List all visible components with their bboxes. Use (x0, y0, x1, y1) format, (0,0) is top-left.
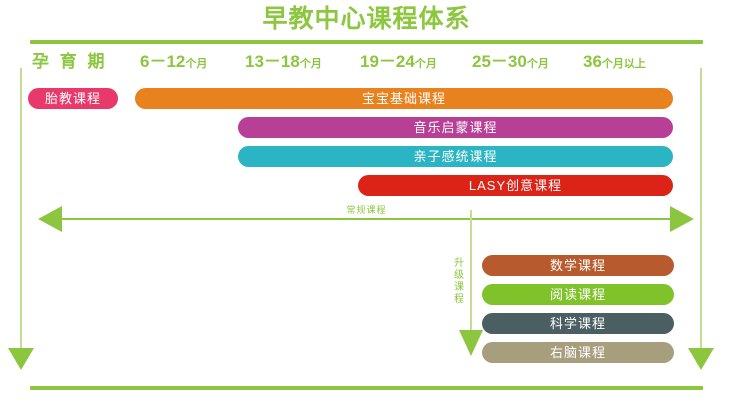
age-header-unit: 个月 (185, 58, 207, 70)
age-header-unit: 个月 (300, 58, 322, 70)
course-bar[interactable]: 科学课程 (482, 313, 674, 334)
age-header-range: 36 (583, 52, 602, 71)
course-bar[interactable]: 右脑课程 (482, 342, 674, 363)
regular-course-axis-label: 常规课程 (0, 203, 733, 216)
top-divider (30, 40, 703, 44)
age-header-unit: 个月 (415, 58, 437, 70)
course-bar[interactable]: 亲子感统课程 (238, 146, 673, 167)
right-down-arrow-icon (688, 348, 714, 370)
regular-course-axis (60, 218, 670, 220)
upgrade-down-arrow-icon (459, 330, 483, 356)
infographic-root: 早教中心课程体系 孕 育 期6－12个月13－18个月19－24个月25－30个… (0, 0, 733, 403)
age-header-3: 19－24个月 (360, 50, 437, 76)
course-bar[interactable]: 数学课程 (482, 255, 674, 276)
age-header-range: 孕 育 期 (32, 52, 107, 71)
course-bar[interactable]: 宝宝基础课程 (135, 88, 673, 109)
prenatal-course-pill[interactable]: 胎教课程 (28, 88, 118, 109)
left-down-arrow-icon (8, 348, 34, 370)
age-header-range: 19－24 (360, 52, 415, 71)
page-title: 早教中心课程体系 (0, 4, 733, 34)
age-header-unit: 个月以上 (602, 58, 646, 70)
age-header-row: 孕 育 期6－12个月13－18个月19－24个月25－30个月36个月以上 (0, 50, 733, 74)
age-header-1: 6－12个月 (140, 50, 207, 76)
age-header-2: 13－18个月 (245, 50, 322, 76)
age-header-0: 孕 育 期 (32, 50, 107, 74)
age-header-range: 6－12 (140, 52, 185, 71)
course-bar[interactable]: 阅读课程 (482, 284, 674, 305)
age-header-range: 25－30 (472, 52, 527, 71)
age-header-5: 36个月以上 (583, 50, 646, 76)
course-bar[interactable]: LASY创意课程 (358, 175, 673, 196)
age-header-unit: 个月 (527, 58, 549, 70)
upgrade-timeline-line (470, 210, 472, 342)
course-bar[interactable]: 音乐启蒙课程 (238, 117, 673, 138)
age-header-range: 13－18 (245, 52, 300, 71)
bottom-divider (30, 386, 703, 390)
upgrade-course-label: 升级课程 (452, 258, 466, 306)
age-header-4: 25－30个月 (472, 50, 549, 76)
